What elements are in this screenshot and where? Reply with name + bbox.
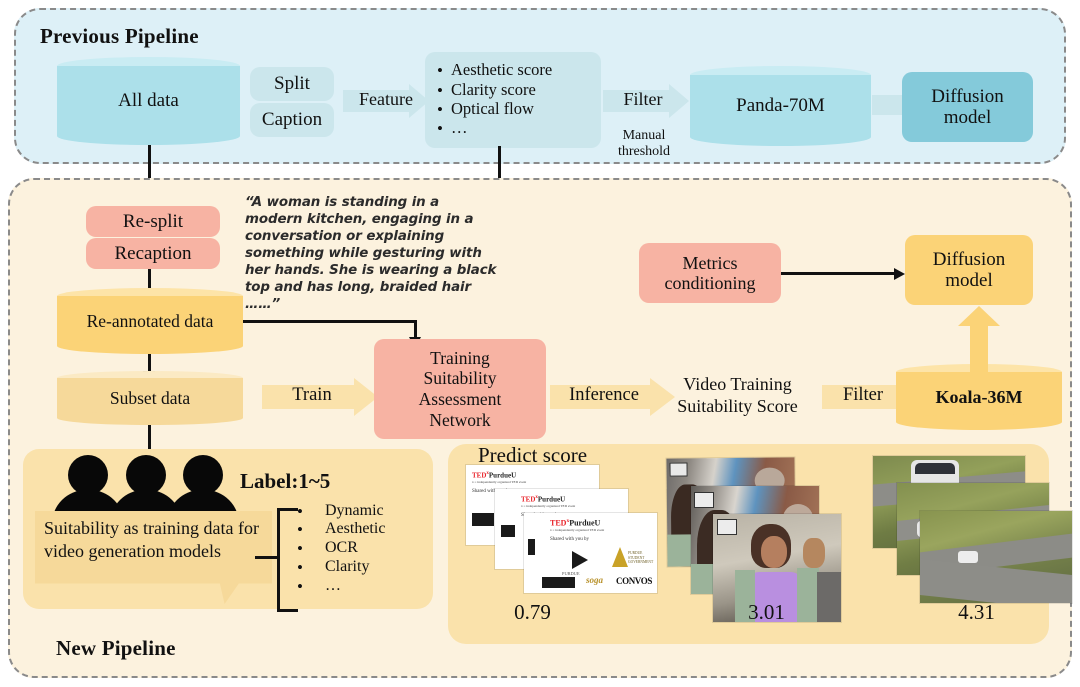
watermark-icon (717, 519, 737, 535)
metrics-to-diffusion-arrowhead (894, 268, 905, 280)
dimension-0: Dynamic (325, 503, 384, 519)
bracket-stem (255, 556, 279, 559)
logo-block-icon (528, 539, 535, 555)
koala-36m-label: Koala-36M (896, 364, 1062, 430)
psg-caption: PURDUESTUDENTGOVERNMENT (628, 551, 653, 565)
tedx-tagline: x = independently organized TED event (472, 480, 526, 484)
score-label-line1: Video Training (656, 374, 819, 396)
filter-arrow-label-bottom: Filter (822, 385, 904, 406)
previous-diffusion-model-box: Diffusion model (902, 72, 1033, 142)
metrics-line2: conditioning (665, 273, 756, 293)
metrics-to-diffusion-line (781, 272, 896, 275)
logo-block-icon (472, 513, 494, 526)
re-split-box[interactable]: Re-split (86, 206, 220, 237)
inference-arrow-label: Inference (550, 385, 658, 406)
woman-face (761, 536, 787, 568)
manual-threshold-line1: Manual (598, 128, 690, 144)
diffusion-line1: Diffusion (933, 249, 1005, 270)
tedx-tagline: x = independently organized TED event (550, 528, 604, 532)
network-line-1: Suitability (419, 368, 502, 389)
dimension-1: Aesthetic (325, 521, 385, 537)
sample-score-0: 0.79 (466, 600, 599, 625)
person-head-icon (68, 455, 108, 495)
car-window (915, 463, 955, 474)
panda-70m-cylinder: Panda-70M (690, 66, 871, 146)
video-training-suitability-score-label: Video Training Suitability Score (656, 374, 819, 417)
feature-item-2: Optical flow (451, 101, 534, 118)
caption-quote: “A woman is standing in a modern kitchen… (245, 194, 497, 313)
diffusion-line2: model (931, 107, 1003, 128)
purdue-block-logo-icon (542, 577, 575, 588)
convos-logo-text: CONVOS (616, 576, 652, 586)
tedx-tagline: x = independently organized TED event (521, 504, 575, 508)
psg-logo-icon (612, 547, 628, 567)
purdue-logo-icon (572, 551, 588, 569)
arrow-head (958, 306, 1000, 326)
re-annotated-data-cylinder: Re-annotated data (57, 288, 243, 354)
dimension-2: OCR (325, 540, 358, 556)
recaption-box[interactable]: Recaption (86, 238, 220, 269)
all-data-cylinder: All data (57, 57, 240, 145)
suitability-text: Suitability as training data for video g… (44, 517, 259, 563)
network-line-0: Training (419, 348, 502, 369)
filter-arrow-label: Filter (603, 89, 683, 110)
sample-road-thumb-3 (920, 511, 1072, 603)
network-line-3: Network (419, 410, 502, 431)
diffusion-line2: model (933, 270, 1005, 291)
subset-data-label: Subset data (57, 371, 243, 425)
network-line-2: Assessment (419, 389, 502, 410)
sample-score-1: 3.01 (700, 600, 833, 625)
manual-threshold-line2: threshold (598, 144, 690, 160)
bullet-icon: • (297, 559, 311, 576)
score-label-line2: Suitability Score (656, 396, 819, 418)
bracket-icon (277, 508, 298, 612)
sample-slide-thumb-3: TEDxPurdueU x = independently organized … (524, 513, 657, 593)
person-head-icon (126, 455, 166, 495)
soga-logo-text: soga (586, 575, 603, 585)
metrics-conditioning-box[interactable]: Metrics conditioning (639, 243, 781, 303)
shared-with-text: Shared with you by (550, 537, 589, 542)
watermark-icon (669, 462, 687, 476)
new-diffusion-model-box: Diffusion model (905, 235, 1033, 305)
koala-to-diffusion-arrow (958, 306, 1000, 372)
car-icon (958, 551, 978, 563)
annotated-to-network-line (243, 320, 417, 323)
feature-item-3: … (451, 120, 468, 137)
person-head-icon (183, 455, 223, 495)
feature-list-box: • Aesthetic score • Clarity score • Opti… (425, 52, 601, 148)
bullet-icon: • (297, 521, 311, 538)
watermark-icon (694, 492, 714, 508)
subset-data-cylinder: Subset data (57, 371, 243, 425)
all-data-label: All data (57, 57, 240, 145)
tedx-wordmark-icon: TEDxPurdueU (521, 495, 565, 503)
split-box[interactable]: Split (250, 67, 334, 101)
dimension-4: … (325, 578, 341, 594)
koala-36m-cylinder: Koala-36M (896, 364, 1062, 430)
feature-item-0: Aesthetic score (451, 62, 552, 79)
logo-block-icon (501, 525, 515, 537)
feature-arrow-label: Feature (343, 89, 429, 110)
annotation-dimension-list: • Dynamic • Aesthetic • OCR • Clarity • … (297, 501, 427, 597)
new-pipeline-title: New Pipeline (56, 636, 176, 661)
panda-70m-label: Panda-70M (690, 66, 871, 146)
bullet-icon: • (437, 82, 451, 99)
bullet-icon: • (437, 101, 451, 118)
label-range-text: Label:1~5 (240, 469, 330, 494)
tedx-wordmark-icon: TEDxPurdueU (550, 518, 600, 528)
dimension-3: Clarity (325, 559, 369, 575)
bullet-icon: • (437, 120, 451, 137)
train-arrow-label: Train (262, 385, 362, 406)
re-annotated-data-label: Re-annotated data (57, 288, 243, 354)
previous-pipeline-title: Previous Pipeline (40, 24, 199, 49)
arrow-shaft (872, 95, 906, 115)
sample-score-2: 4.31 (910, 600, 1043, 625)
metrics-line1: Metrics (665, 253, 756, 273)
bullet-icon: • (437, 62, 451, 79)
diffusion-line1: Diffusion (931, 86, 1003, 107)
training-suitability-assessment-network-box[interactable]: Training Suitability Assessment Network (374, 339, 546, 439)
raised-hand (803, 538, 825, 568)
manual-threshold-note: Manual threshold (598, 128, 690, 159)
caption-box[interactable]: Caption (250, 103, 334, 137)
bullet-icon: • (297, 540, 311, 557)
feature-item-1: Clarity score (451, 82, 536, 99)
bullet-icon: • (297, 578, 311, 595)
purdue-caption: PURDUE (562, 571, 580, 576)
tedx-wordmark-icon: TEDxPurdueU (472, 471, 516, 479)
bullet-icon: • (297, 503, 311, 520)
